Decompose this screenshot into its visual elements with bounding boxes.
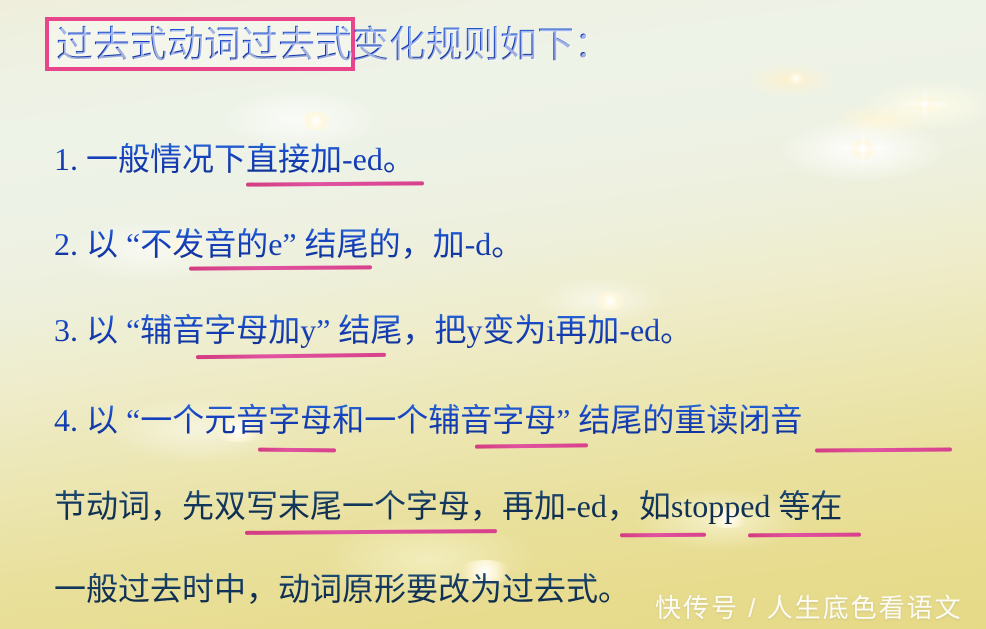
underline-stroke	[196, 353, 386, 359]
underline-stroke	[475, 443, 588, 448]
sparkle-glow-icon	[786, 72, 806, 85]
sparkle-star-icon	[832, 128, 894, 168]
rule-item-4-line-1: 4. 以 “一个元音字母和一个辅音字母” 结尾的重读闭音	[54, 395, 802, 441]
sparkle-star-icon	[900, 88, 950, 120]
underline-stroke	[258, 448, 336, 453]
sparkle-glow-icon	[912, 96, 938, 112]
underline-stroke	[620, 533, 706, 538]
rule-item-3: 3. 以 “辅音字母加y” 结尾，把y变为i再加-ed。	[54, 305, 692, 351]
underline-stroke	[189, 265, 372, 270]
sparkle-glow-icon	[846, 138, 880, 160]
underline-stroke	[815, 448, 952, 453]
underline-stroke	[748, 533, 861, 538]
rule-item-2: 2. 以 “不发音的e” 结尾的，加-d。	[54, 219, 523, 265]
rule-item-1: 1. 一般情况下直接加-ed。	[54, 134, 415, 180]
rule-item-4-line-3: 一般过去时中，动词原形要改为过去式。	[54, 564, 630, 610]
page-title-row: 过去式动词过去式变化规则如下：	[0, 8, 986, 70]
watermark-label: 快传号 / 人生底色看语文	[655, 588, 963, 625]
underline-stroke	[246, 181, 424, 186]
sparkle-glow-icon	[296, 112, 336, 130]
rule-item-4-line-2: 节动词，先双写末尾一个字母，再加-ed，如stopped 等在	[54, 481, 842, 527]
page-title: 过去式动词过去式变化规则如下：	[56, 14, 611, 68]
underline-stroke	[245, 529, 497, 535]
slide-canvas: 过去式动词过去式变化规则如下： 1. 一般情况下直接加-ed。 2. 以 “不发…	[0, 0, 986, 629]
